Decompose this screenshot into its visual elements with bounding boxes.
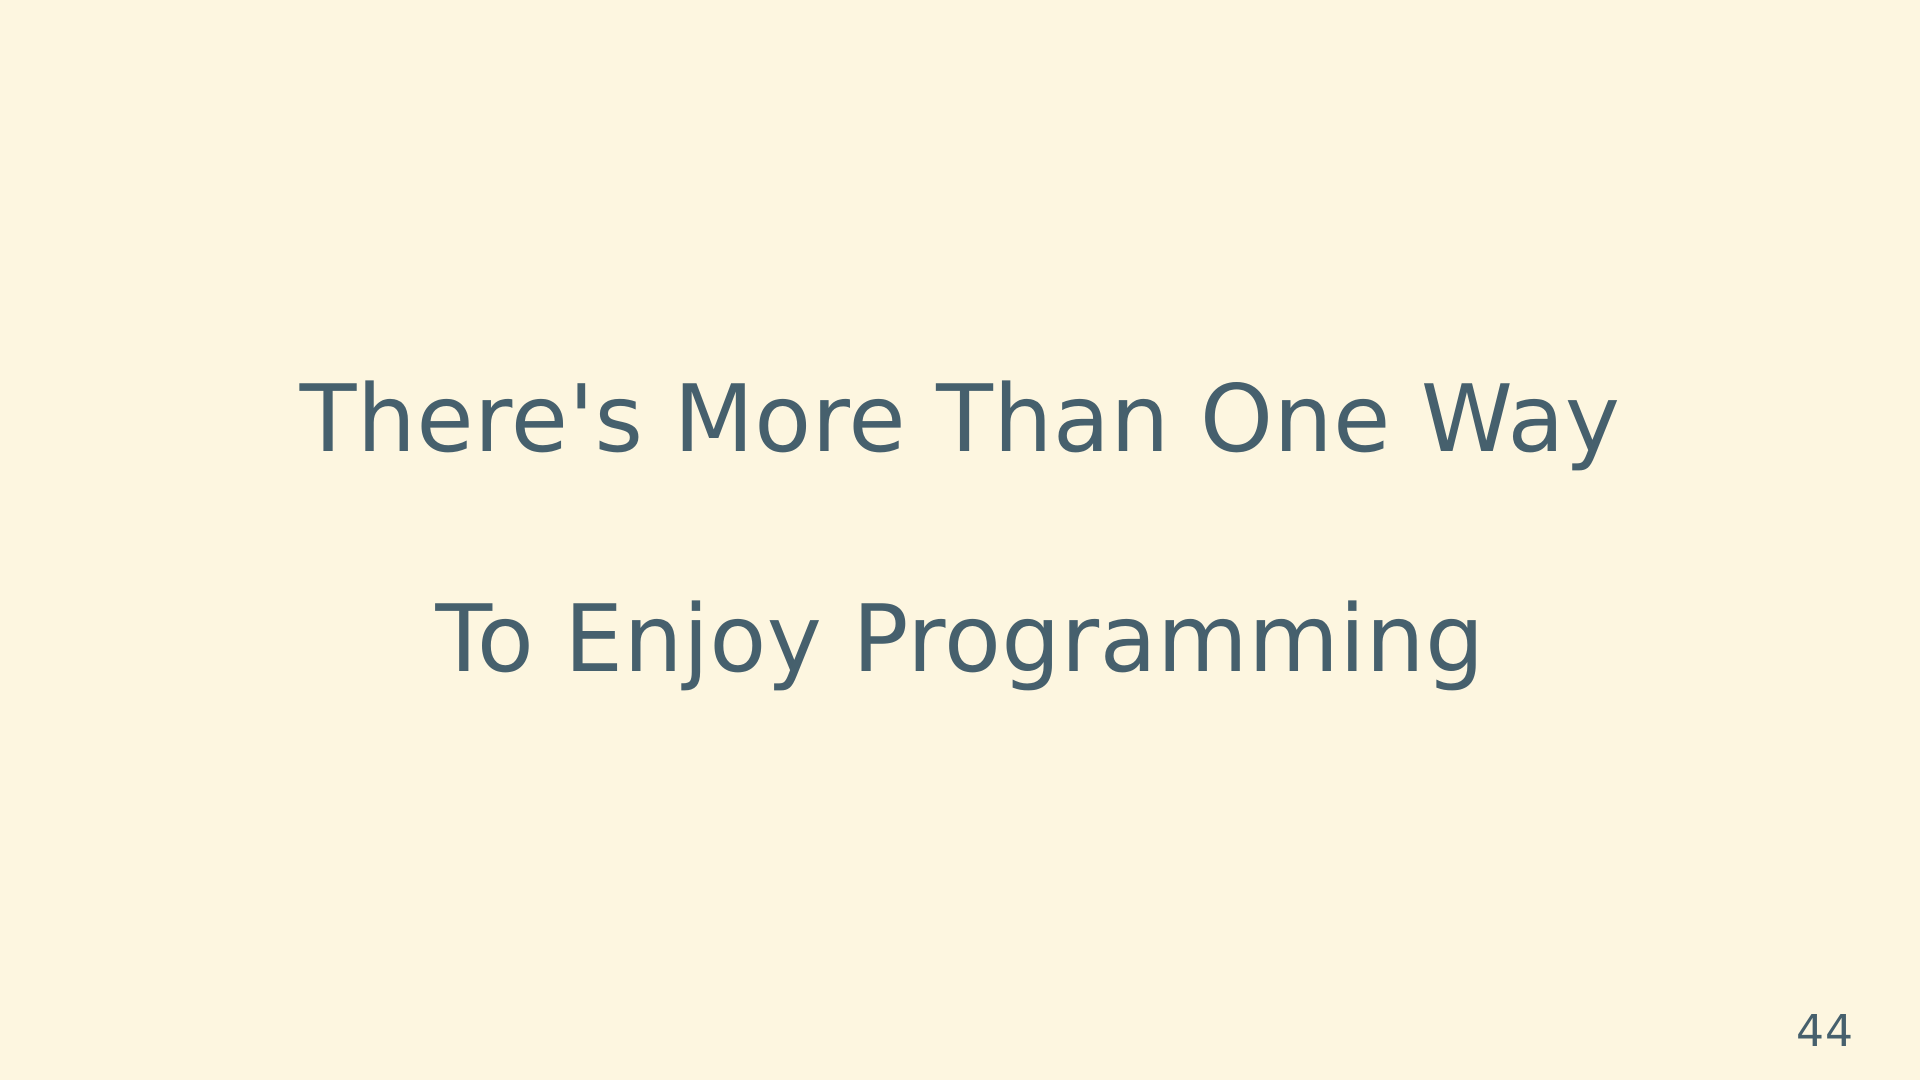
slide-title-block: There's More Than One Way To Enjoy Progr… xyxy=(0,0,1920,1080)
page-title: There's More Than One Way To Enjoy Progr… xyxy=(300,254,1621,804)
title-line-1: There's More Than One Way xyxy=(300,364,1621,474)
page-number: 44 xyxy=(1796,1006,1854,1058)
title-line-2: To Enjoy Programming xyxy=(300,584,1621,694)
presentation-slide: There's More Than One Way To Enjoy Progr… xyxy=(0,0,1920,1080)
